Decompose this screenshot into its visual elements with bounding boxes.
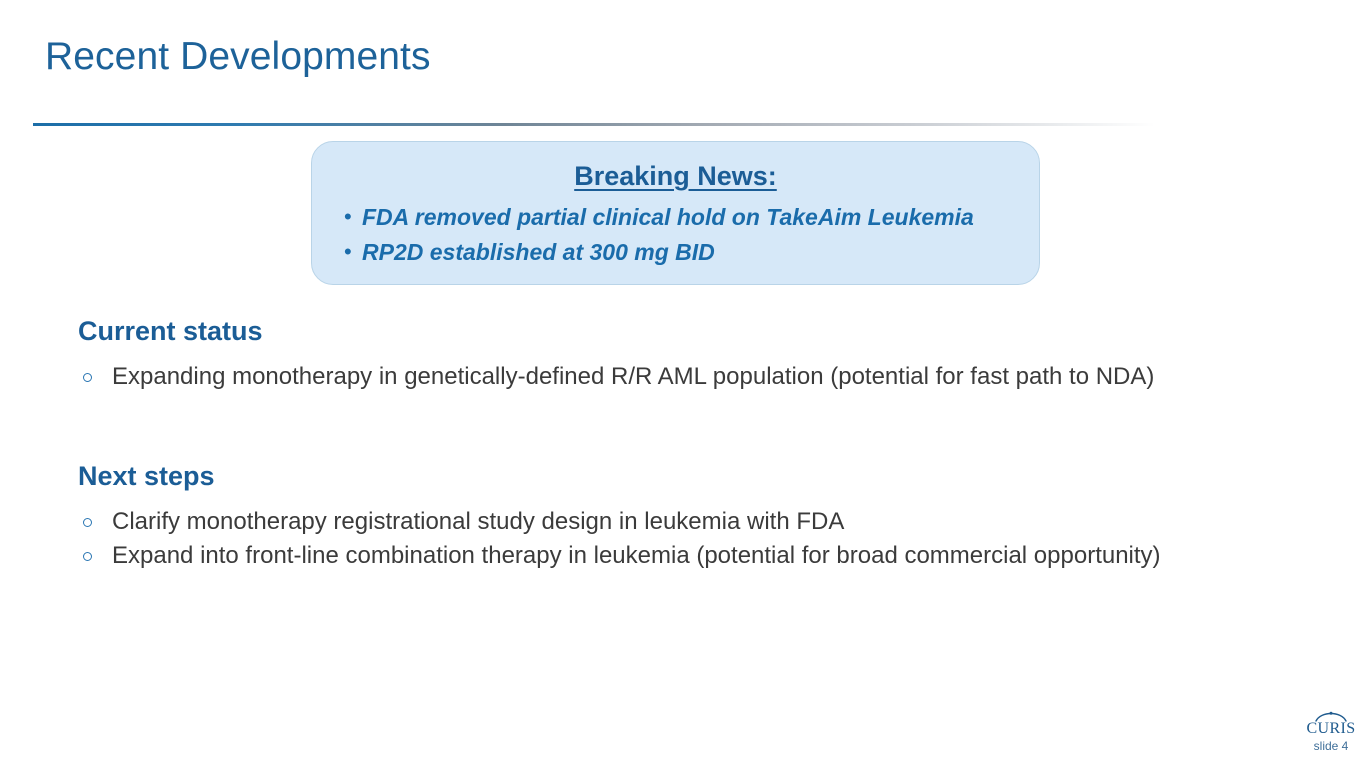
circle-bullet-icon	[83, 518, 92, 527]
bullet-dot-icon: •	[344, 235, 352, 268]
logo-wordmark: CURIS	[1300, 721, 1362, 738]
bullet-dot-icon: •	[344, 200, 352, 233]
list-item: Expanding monotherapy in genetically-def…	[78, 360, 1318, 395]
bullet-list: Clarify monotherapy registrational study…	[78, 505, 1318, 574]
curis-logo: CURIS slide 4	[1300, 709, 1362, 754]
section-next-steps: Next steps Clarify monotherapy registrat…	[78, 460, 1318, 574]
list-item: • FDA removed partial clinical hold on T…	[338, 200, 1013, 235]
list-item: Clarify monotherapy registrational study…	[78, 505, 1318, 540]
breaking-news-callout: Breaking News: • FDA removed partial cli…	[311, 141, 1040, 285]
slide-canvas: Recent Developments Breaking News: • FDA…	[0, 0, 1365, 768]
list-item: • RP2D established at 300 mg BID	[338, 235, 1013, 270]
callout-heading: Breaking News:	[338, 160, 1013, 194]
circle-bullet-icon	[83, 373, 92, 382]
page-title: Recent Developments	[45, 35, 431, 79]
section-current-status: Current status Expanding monotherapy in …	[78, 315, 1318, 394]
list-item: Expand into front-line combination thera…	[78, 539, 1318, 574]
list-item-text: Clarify monotherapy registrational study…	[112, 508, 844, 535]
section-heading: Next steps	[78, 460, 1318, 494]
slide-number-label: slide 4	[1300, 739, 1362, 755]
title-divider	[33, 123, 1155, 126]
section-heading: Current status	[78, 315, 1318, 349]
list-item-text: Expanding monotherapy in genetically-def…	[112, 363, 1154, 390]
bullet-list: Expanding monotherapy in genetically-def…	[78, 360, 1318, 395]
list-item-text: RP2D established at 300 mg BID	[362, 239, 715, 265]
list-item-text: FDA removed partial clinical hold on Tak…	[362, 204, 974, 230]
callout-bullet-list: • FDA removed partial clinical hold on T…	[338, 200, 1013, 270]
list-item-text: Expand into front-line combination thera…	[112, 542, 1161, 569]
circle-bullet-icon	[83, 552, 92, 561]
